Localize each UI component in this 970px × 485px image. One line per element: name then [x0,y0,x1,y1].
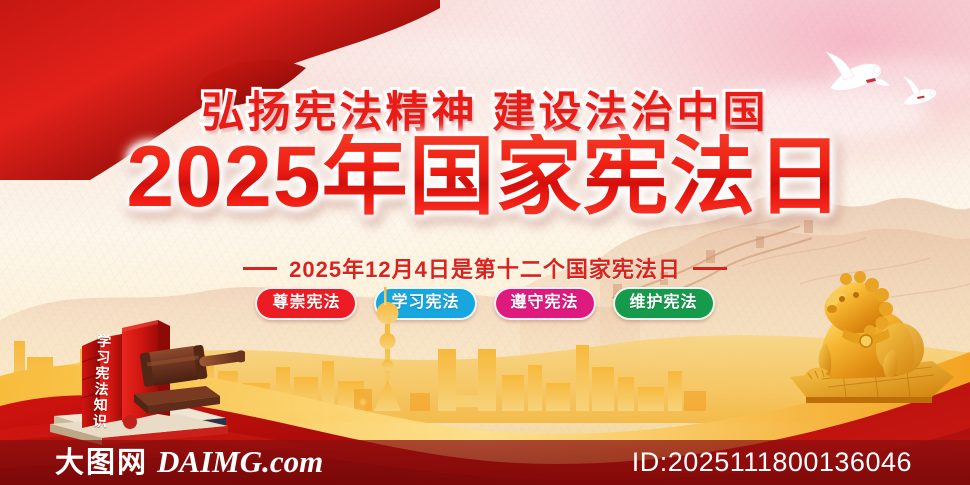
spark-dot [285,392,290,397]
spark-dot [640,429,644,433]
spark-dot [360,399,366,405]
site-name-cn: 大图网 [55,439,148,481]
asset-id-label: ID:2025111800136046 [632,447,912,478]
dash-right-icon [693,267,727,270]
dash-left-icon [243,267,277,270]
constitution-day-poster: 弘扬宪法精神 建设法治中国 2025年国家宪法日 2025年国家宪法日 2025… [0,0,970,485]
guardian-lion-statue [782,245,962,410]
spark-dot [330,415,334,419]
headline-main: 2025年国家宪法日 [0,134,970,220]
site-name-en: DAIMG.com [157,444,323,480]
law-books-and-gavel [30,302,245,447]
site-watermark: 大图网 DAIMG.com [55,439,323,481]
date-line-text: 2025年12月4日是第十二个国家宪法日 [289,257,681,282]
